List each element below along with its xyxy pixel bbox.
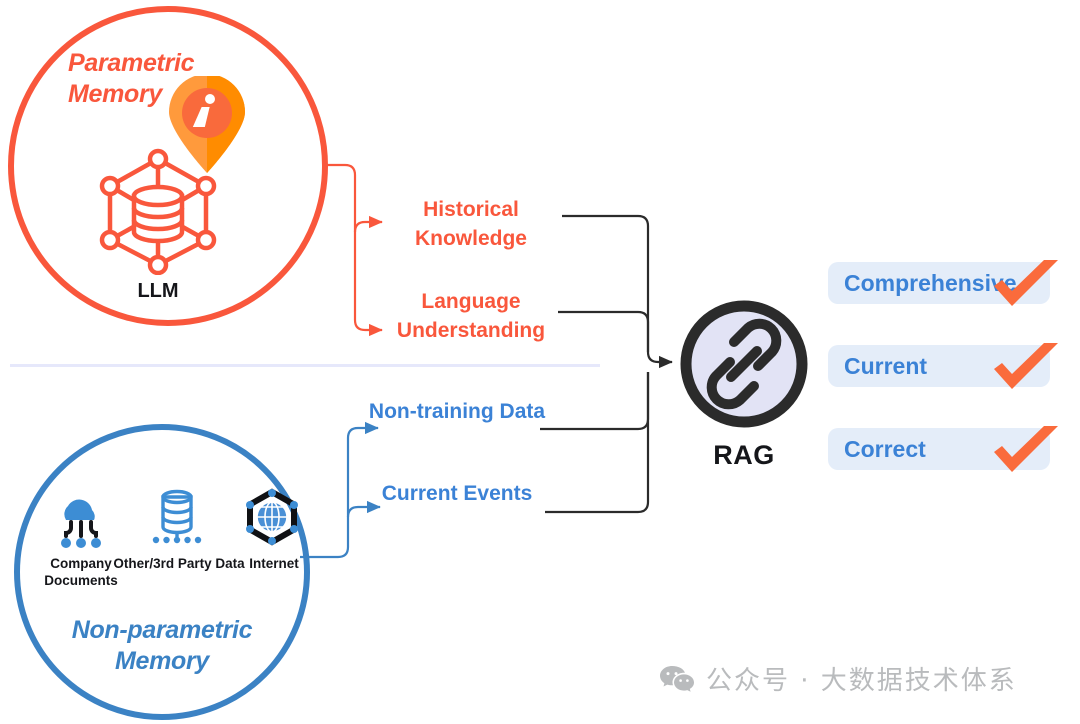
result-badge-label: Current bbox=[844, 353, 927, 380]
llm-network-database-icon bbox=[96, 145, 220, 275]
result-badge-label: Correct bbox=[844, 436, 926, 463]
database-icon bbox=[146, 486, 208, 548]
globe-network-icon bbox=[241, 488, 303, 550]
section-divider bbox=[10, 364, 600, 367]
wechat-icon bbox=[660, 665, 694, 693]
source-label-internet: Internet bbox=[212, 556, 336, 573]
check-icon bbox=[990, 258, 1062, 314]
diagram-canvas: Parametric Memory bbox=[0, 0, 1080, 724]
rag-link-icon bbox=[678, 298, 810, 430]
cloud-documents-icon bbox=[50, 490, 112, 552]
watermark-text: 公众号 · 大数据技术体系 bbox=[706, 660, 1017, 697]
label-language-understanding: Language Understanding bbox=[372, 288, 570, 346]
non-parametric-memory-title: Non-parametric Memory bbox=[22, 615, 302, 678]
check-icon bbox=[990, 341, 1062, 397]
watermark: 公众号 · 大数据技术体系 bbox=[660, 660, 1017, 697]
label-historical-knowledge: Historical Knowledge bbox=[380, 196, 562, 254]
label-non-training-data: Non-training Data bbox=[366, 398, 548, 427]
rag-label: RAG bbox=[668, 440, 820, 471]
llm-label: LLM bbox=[96, 280, 220, 303]
check-icon bbox=[990, 424, 1062, 480]
label-current-events: Current Events bbox=[366, 480, 548, 509]
